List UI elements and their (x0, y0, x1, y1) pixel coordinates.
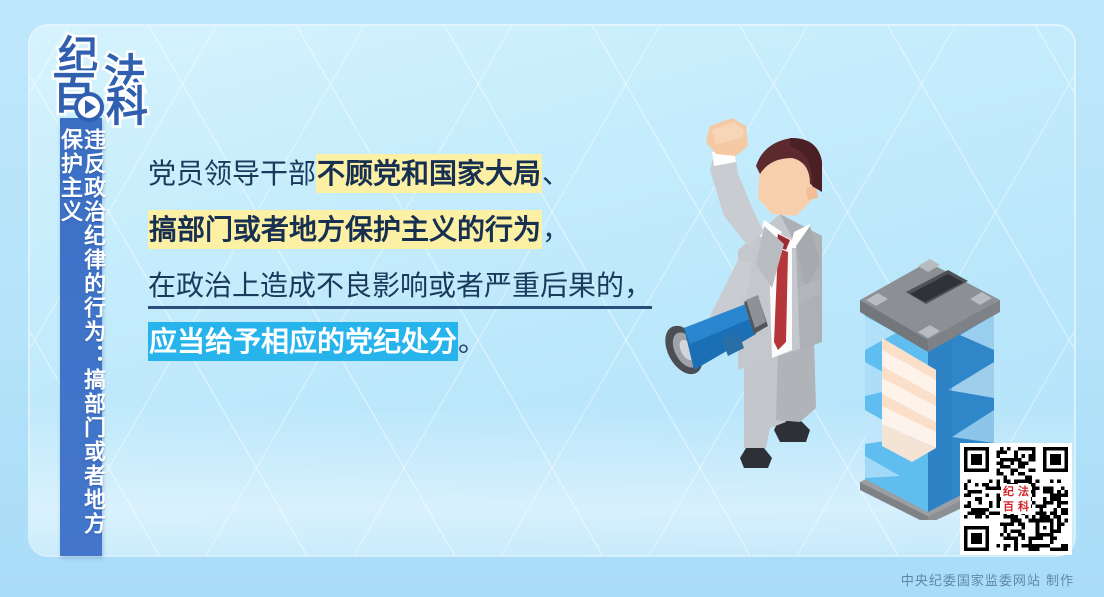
text-line-3: 在政治上造成不良影响或者严重后果的， (148, 264, 708, 308)
qr-logo-char-ke: 科 (1016, 499, 1031, 514)
footer-credit: 中央纪委国家监委网站 制作 (901, 570, 1074, 589)
ribbon-label: 违反政治纪律的行为：搞部门或者地方保护主义 (58, 128, 104, 556)
play-icon (74, 92, 104, 122)
text-line-1: 党员领导干部不顾党和国家大局、 (148, 152, 708, 196)
logo-char-ke: 科 (106, 86, 148, 128)
text-line-2: 搞部门或者地方保护主义的行为， (148, 208, 708, 252)
text-segment-4-2: 。 (458, 325, 486, 358)
text-line-4: 应当给予相应的党纪处分。 (148, 320, 708, 364)
main-text-block: 党员领导干部不顾党和国家大局、搞部门或者地方保护主义的行为，在政治上造成不良影响… (148, 152, 708, 376)
brand-logo: 纪 法 百 科 (52, 36, 162, 128)
text-segment-3-1: 在政治上造成不良影响或者严重后果的， (148, 269, 652, 309)
qr-logo-char-fa: 法 (1016, 484, 1031, 499)
text-segment-2-2: ， (542, 213, 570, 246)
qr-logo-char-ji: 纪 (1001, 484, 1016, 499)
businessman-figure (706, 118, 822, 468)
text-segment-4-1: 应当给予相应的党纪处分 (148, 322, 458, 361)
text-segment-1-1: 党员领导干部 (148, 157, 316, 190)
qr-logo-char-bai: 百 (1001, 499, 1016, 514)
qr-code[interactable]: 纪 法 百 科 (960, 443, 1072, 555)
text-segment-2-1: 搞部门或者地方保护主义的行为 (148, 210, 542, 249)
text-segment-1-3: 、 (542, 157, 570, 190)
qr-center-logo: 纪 法 百 科 (1001, 484, 1031, 514)
poster-canvas: 纪 法 百 科 违反政治纪律的行为：搞部门或者地方保护主义 党员领导干部不顾党和… (0, 0, 1104, 597)
vertical-category-ribbon: 违反政治纪律的行为：搞部门或者地方保护主义 (60, 118, 102, 556)
text-segment-1-2: 不顾党和国家大局 (316, 154, 542, 193)
